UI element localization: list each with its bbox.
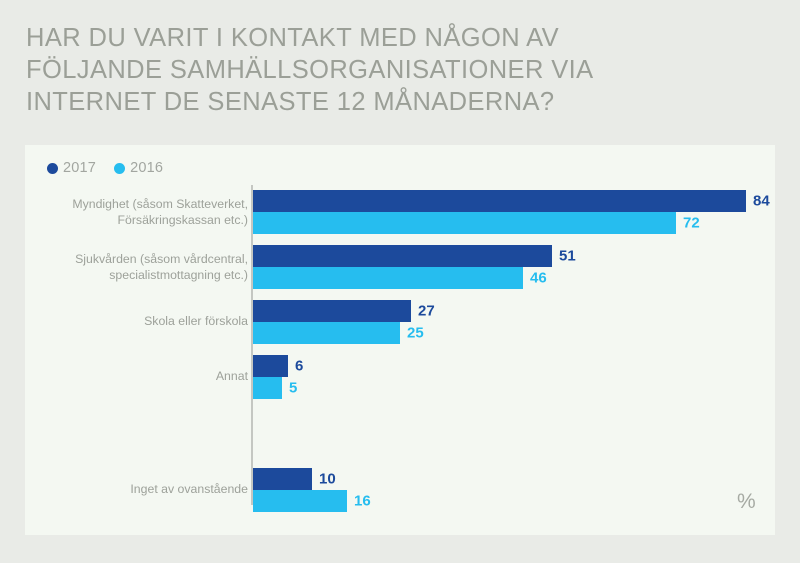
legend-item-2016[interactable]: 2016 [114, 160, 163, 176]
bar-value-2017: 27 [418, 303, 435, 320]
bar-value-2016: 5 [289, 380, 297, 397]
plot-area: Myndighet (såsom Skatteverket, Försäkrin… [25, 185, 775, 515]
legend-label-2016: 2016 [130, 160, 163, 176]
bar-2017[interactable] [253, 468, 312, 490]
bar-value-2017: 51 [559, 248, 576, 265]
bar-2016[interactable] [253, 322, 400, 344]
legend-dot-2016 [114, 163, 125, 174]
bar-2017[interactable] [253, 300, 411, 322]
bar-2017[interactable] [253, 245, 552, 267]
chart-legend: 2017 2016 [47, 160, 163, 176]
bar-value-2017: 6 [295, 358, 303, 375]
category-label: Sjukvården (såsom vårdcentral, specialis… [33, 252, 248, 283]
bar-value-2017: 84 [753, 193, 770, 210]
bar-2016[interactable] [253, 490, 347, 512]
bar-value-2016: 25 [407, 325, 424, 342]
category-label: Skola eller förskola [33, 314, 248, 330]
chart-card: 2017 2016 Myndighet (såsom Skatteverket,… [25, 145, 775, 535]
bar-2016[interactable] [253, 212, 676, 234]
bar-2017[interactable] [253, 190, 746, 212]
category-label: Myndighet (såsom Skatteverket, Försäkrin… [33, 197, 248, 228]
bar-value-2016: 16 [354, 493, 371, 510]
bar-value-2016: 46 [530, 270, 547, 287]
page-title: HAR DU VARIT I KONTAKT MED NÅGON AV FÖLJ… [26, 22, 766, 118]
unit-symbol: % [737, 490, 756, 514]
bar-value-2017: 10 [319, 471, 336, 488]
bar-value-2016: 72 [683, 215, 700, 232]
category-label: Inget av ovanstående [33, 482, 248, 498]
legend-item-2017[interactable]: 2017 [47, 160, 96, 176]
legend-label-2017: 2017 [63, 160, 96, 176]
bar-2016[interactable] [253, 267, 523, 289]
legend-dot-2017 [47, 163, 58, 174]
bar-2016[interactable] [253, 377, 282, 399]
category-label: Annat [33, 369, 248, 385]
bar-2017[interactable] [253, 355, 288, 377]
